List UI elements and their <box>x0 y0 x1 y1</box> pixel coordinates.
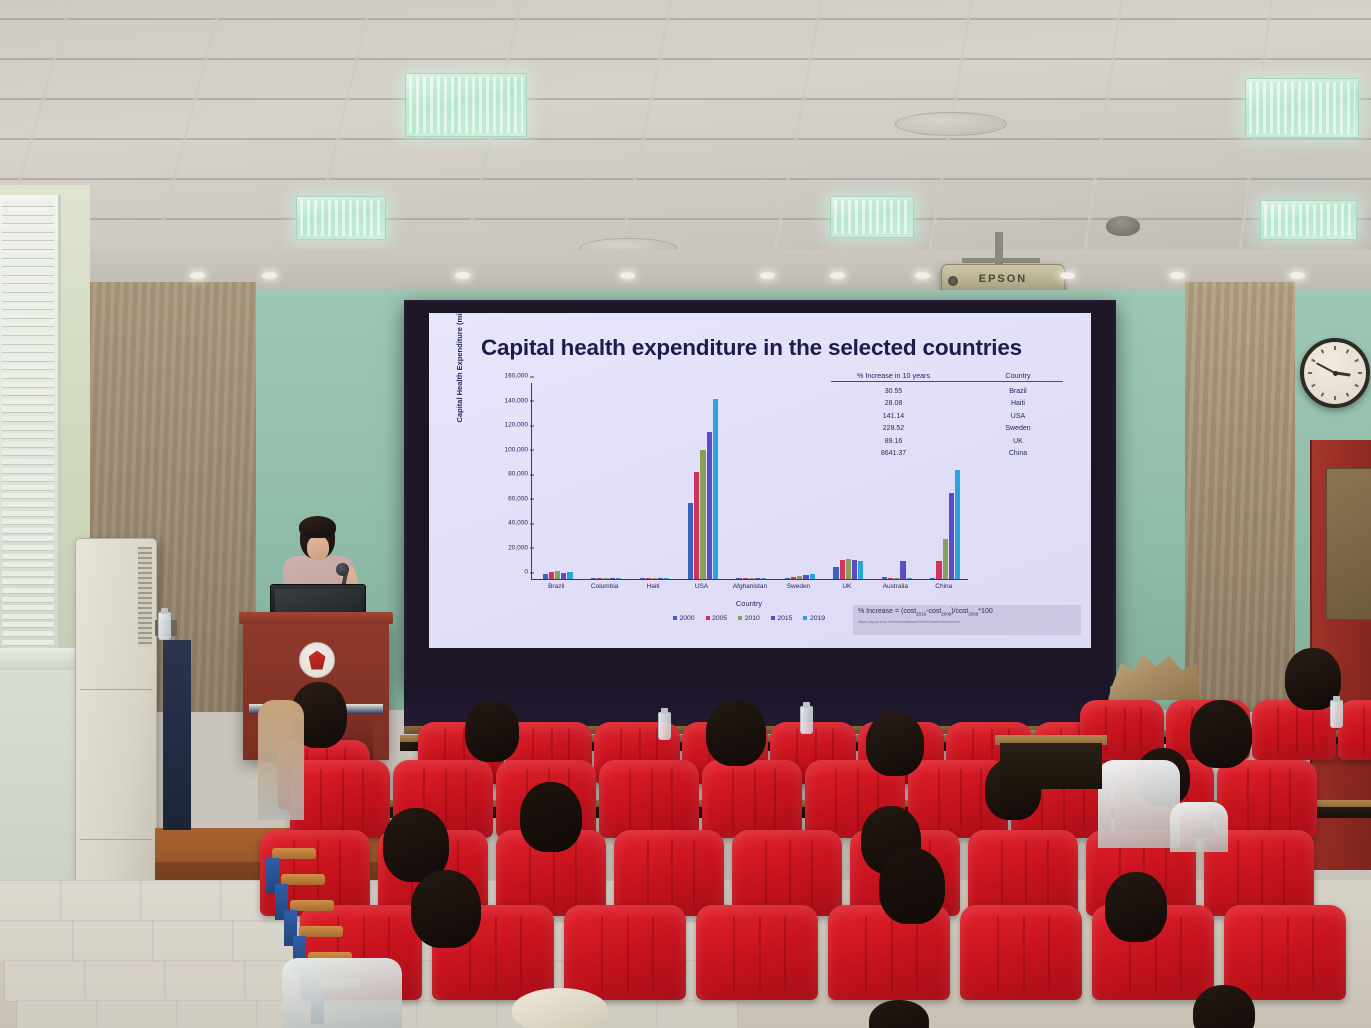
chart-y-tick-label: 20,000 <box>508 544 528 551</box>
chart-bar <box>894 578 899 579</box>
table-cell-country: Sweden <box>973 425 1063 432</box>
seat-back <box>290 760 390 838</box>
seat-crease <box>1140 707 1142 754</box>
audience-torso <box>258 700 304 820</box>
window-blind-slat <box>2 244 54 250</box>
window-blind-slat <box>2 579 54 585</box>
chart-bar-cluster <box>640 578 670 579</box>
chart-x-tick-label: Australia <box>883 583 908 590</box>
window-blind-slat <box>2 588 54 594</box>
chart-y-tick-label: 0 <box>524 569 528 576</box>
window-blind-slat <box>2 296 54 302</box>
seat-back <box>564 905 686 1000</box>
presenter-hair <box>299 516 336 538</box>
door-panel <box>1326 468 1371 620</box>
seat <box>290 760 390 838</box>
chart-bar <box>713 399 718 579</box>
chart-bar <box>700 450 705 579</box>
audience-member <box>1190 700 1252 768</box>
seat-crease <box>980 769 982 830</box>
floor-tile <box>152 920 234 962</box>
clock-tick <box>1311 384 1315 388</box>
audience-member <box>869 1000 929 1028</box>
audience-head <box>869 1000 929 1028</box>
seat-crease <box>671 840 673 907</box>
seat-crease <box>342 769 344 830</box>
ceiling-grid-line <box>0 218 1371 220</box>
chart-x-tick-label: Columbia <box>591 583 618 590</box>
window-blind-slat <box>2 425 54 431</box>
presentation-slide: Capital health expenditure in the select… <box>429 313 1091 648</box>
window-blind-slat <box>2 571 54 577</box>
ceiling-light-panel <box>830 196 914 238</box>
window-blind-slat <box>2 210 54 216</box>
chart-bar-cluster <box>736 578 766 579</box>
seat-back <box>696 905 818 1000</box>
chart-x-tick-label: Brazil <box>548 583 564 590</box>
window-blind-slat <box>2 622 54 628</box>
seat-crease <box>1237 840 1239 907</box>
chart-legend-label: 2015 <box>777 615 792 622</box>
audience-head <box>879 848 945 924</box>
chart-bar <box>688 503 693 579</box>
chart-legend-item: 2015 <box>771 615 793 622</box>
chart-bar-cluster <box>591 578 621 579</box>
water-bottle <box>158 612 171 640</box>
chart-legend-item: 2019 <box>803 615 825 622</box>
chart-bar <box>640 578 645 579</box>
institution-emblem-icon <box>299 642 335 678</box>
recessed-downlight <box>620 272 635 279</box>
wall-clock <box>1300 338 1370 408</box>
chart-y-tick-label: 140,000 <box>505 397 529 404</box>
seat <box>1217 760 1317 838</box>
audience-head <box>465 700 519 762</box>
microphone-icon <box>336 563 349 576</box>
clock-tick <box>1321 392 1325 396</box>
chart-legend-label: 2005 <box>712 615 727 622</box>
chart-y-tick-label: 120,000 <box>505 422 529 429</box>
audience-head <box>1105 872 1167 942</box>
window-blind-slat <box>2 528 54 534</box>
chart-bar <box>888 578 893 579</box>
window-blind-slat <box>2 433 54 439</box>
recessed-downlight <box>1060 272 1075 279</box>
window-blind-slat <box>2 390 54 396</box>
seat <box>732 830 842 916</box>
table-cell-increase: 8641.37 <box>831 450 956 457</box>
chart-x-tick-label: USA <box>695 583 708 590</box>
side-equipment-stand <box>163 640 191 830</box>
chart-bar <box>755 578 760 579</box>
window-blind-slat <box>2 330 54 336</box>
chart-legend-label: 2010 <box>745 615 760 622</box>
table-header-increase: % Increase in 10 years <box>831 371 956 380</box>
clock-tick <box>1346 392 1350 396</box>
chart-bar <box>907 578 912 579</box>
chart-legend-swatch <box>771 616 775 620</box>
ac-vent-grille <box>138 547 152 647</box>
table-row: 28.08Haiti <box>831 400 1063 407</box>
water-bottle <box>1330 700 1343 728</box>
chart-bar <box>810 574 815 579</box>
recessed-downlight <box>262 272 277 279</box>
ac-seam <box>80 689 152 690</box>
formula-box: % Increase = (cost2019-cost2009)/cost200… <box>853 605 1081 635</box>
chart-legend-swatch <box>738 616 742 620</box>
seat-crease <box>857 769 859 830</box>
floor-tile <box>176 1000 258 1028</box>
table-row: 8641.37China <box>831 450 1063 457</box>
audience-member <box>866 712 924 776</box>
ac-seam <box>80 839 152 840</box>
chart-bar <box>955 470 960 579</box>
seat-crease <box>1023 916 1025 990</box>
seat-crease <box>1001 840 1003 907</box>
recessed-downlight <box>915 272 930 279</box>
seat-crease <box>651 769 653 830</box>
chart-bar <box>900 561 905 579</box>
table-cell-country: China <box>973 450 1063 457</box>
chart-bar <box>555 571 560 579</box>
audience-member <box>706 700 766 766</box>
window-blind-slat <box>2 321 54 327</box>
seat <box>960 905 1082 1000</box>
chart-legend-swatch <box>803 616 807 620</box>
chart-x-tick-label: Sweden <box>787 583 811 590</box>
seat-crease <box>1296 707 1298 754</box>
seat-back <box>968 830 1078 916</box>
window-blind-slat <box>2 261 54 267</box>
chart-bar <box>749 578 754 579</box>
clock-tick <box>1334 396 1336 400</box>
ceiling-light-panel <box>405 73 527 137</box>
seat-crease <box>1048 916 1050 990</box>
podium-top <box>239 612 393 624</box>
floor-tile <box>84 960 166 1002</box>
audience-member <box>1105 872 1167 942</box>
chart-bar <box>858 561 863 579</box>
chart-bar <box>833 567 838 579</box>
window-blind-slat <box>2 459 54 465</box>
formula-text: % Increase = (cost2019-cost2009)/cost200… <box>858 608 1076 616</box>
window-blind-slat <box>2 614 54 620</box>
table-row: 141.14USA <box>831 413 1063 420</box>
window-blind-slat <box>2 597 54 603</box>
seat-crease <box>1261 916 1263 990</box>
seat <box>696 905 818 1000</box>
floor-tile <box>60 880 142 922</box>
seat-crease <box>362 769 364 830</box>
floor-tile <box>96 1000 178 1028</box>
seat-crease <box>495 916 497 990</box>
audience-member <box>520 782 582 852</box>
seat-crease <box>916 916 918 990</box>
window-blind-slat <box>2 502 54 508</box>
floor-tile <box>0 920 74 962</box>
window-blind-slat <box>2 218 54 224</box>
chart-y-tick-label: 160,000 <box>505 373 529 380</box>
chart-bar <box>664 578 669 579</box>
ceiling-grid-line <box>0 18 1371 20</box>
chart-bar <box>797 576 802 579</box>
seat-crease <box>789 840 791 907</box>
table-row: 228.52Sweden <box>831 425 1063 432</box>
audience-member <box>465 700 519 762</box>
window-blind-slat <box>2 373 54 379</box>
chart-bar <box>603 578 608 579</box>
increase-table: % Increase in 10 years Country 30.55Braz… <box>831 371 1063 457</box>
floor-tile <box>164 960 246 1002</box>
chart-bar <box>736 578 741 579</box>
audience-head <box>1190 700 1252 768</box>
wood-wall-panel-right <box>1185 282 1295 712</box>
table-cell-increase: 89.16 <box>831 438 956 445</box>
chart-bar <box>743 578 748 579</box>
table-cell-increase: 141.14 <box>831 413 956 420</box>
seat-back <box>732 830 842 916</box>
seat-crease <box>1105 707 1107 754</box>
table-cell-country: Haiti <box>973 400 1063 407</box>
audience-member <box>1193 985 1255 1028</box>
window-blind-slat <box>2 278 54 284</box>
clock-tick <box>1321 349 1325 353</box>
clock-tick <box>1346 349 1350 353</box>
seat-crease <box>1025 840 1027 907</box>
table-cell-increase: 228.52 <box>831 425 956 432</box>
window-blind-slat <box>2 442 54 448</box>
slide-title: Capital health expenditure in the select… <box>481 335 1022 361</box>
seat-back <box>960 905 1082 1000</box>
window-blind-slat <box>2 631 54 637</box>
floor-tile <box>656 1000 738 1028</box>
window-blind-slat <box>2 304 54 310</box>
window-blind-slat <box>2 347 54 353</box>
window-blind-slat <box>2 227 54 233</box>
seat-crease <box>1047 840 1049 907</box>
seat-crease <box>765 840 767 907</box>
window-blind-slat <box>2 407 54 413</box>
table-cell-increase: 30.55 <box>831 388 956 395</box>
chart-x-tick-label: UK <box>842 583 851 590</box>
seat-crease <box>1283 840 1285 907</box>
audience-head <box>1193 985 1255 1028</box>
seat-crease <box>671 769 673 830</box>
window-blind-slat <box>2 450 54 456</box>
floor-tile <box>4 960 86 1002</box>
table-header-country: Country <box>973 371 1063 380</box>
window-blind-slat <box>2 253 54 259</box>
audience-head <box>866 712 924 776</box>
seat-crease <box>997 916 999 990</box>
seat-crease <box>339 840 341 907</box>
window-blind-slat <box>2 640 54 646</box>
window-blind-slat <box>2 468 54 474</box>
chart-bar <box>761 578 766 579</box>
seat-crease <box>733 916 735 990</box>
presenter-face <box>307 536 329 560</box>
clock-tick <box>1358 372 1362 374</box>
clock-center-dot <box>1333 371 1338 376</box>
clock-tick <box>1354 384 1358 388</box>
seat-back <box>702 760 802 838</box>
clock-tick <box>1308 372 1312 374</box>
window-blind-slat <box>2 511 54 517</box>
clock-tick <box>1354 359 1358 363</box>
chart-y-tick-label: 80,000 <box>508 471 528 478</box>
window-blind-slat <box>2 399 54 405</box>
chart-y-tick-label: 40,000 <box>508 520 528 527</box>
chart-bar <box>803 575 808 579</box>
recessed-downlight <box>1170 272 1185 279</box>
formula-source-url: https://apps.who.int/nha/database/ViewDa… <box>858 619 1076 624</box>
window-blind-slat <box>2 270 54 276</box>
window-blind-slat <box>2 382 54 388</box>
chart-x-tick-label: China <box>935 583 952 590</box>
chart-bar <box>616 578 621 579</box>
seat-crease <box>652 916 654 990</box>
chart-bar <box>882 577 887 579</box>
chart-y-tick-label: 100,000 <box>505 446 529 453</box>
window-blind-slat <box>2 364 54 370</box>
chart-legend-label: 2000 <box>679 615 694 622</box>
chart-bar-cluster <box>882 561 912 579</box>
seat-crease <box>960 769 962 830</box>
recessed-downlight <box>1290 272 1305 279</box>
chart-bar-cluster <box>688 399 718 579</box>
chart-x-tick-label: Afghanistan <box>733 583 767 590</box>
chart-bar <box>561 573 566 579</box>
seat-crease <box>1363 707 1365 754</box>
chart-bar <box>543 574 548 579</box>
ceiling-grid-line <box>0 138 1371 140</box>
seat-back <box>614 830 724 916</box>
recessed-downlight <box>190 272 205 279</box>
seat-crease <box>835 769 837 830</box>
window-blind-slat <box>2 554 54 560</box>
projection-screen: Capital health expenditure in the select… <box>404 300 1116 686</box>
seat-crease <box>1289 769 1291 830</box>
chart-bar <box>646 578 651 579</box>
window-blind-slat <box>2 493 54 499</box>
baseball-cap <box>512 988 608 1028</box>
seat-crease <box>629 769 631 830</box>
seat <box>599 760 699 838</box>
floor-tile <box>72 920 154 962</box>
chart-bar <box>840 560 845 579</box>
chart-legend-label: 2019 <box>810 615 825 622</box>
seat-crease <box>1312 707 1314 754</box>
chart-bar <box>597 578 602 579</box>
seat-crease <box>1124 707 1126 754</box>
ceiling-grid-line <box>0 178 1371 180</box>
chart-bar <box>791 577 796 579</box>
chart-bar-cluster <box>785 574 815 579</box>
table-cell-country: UK <box>973 438 1063 445</box>
ceiling-light-panel <box>296 196 386 240</box>
audience-torso <box>282 958 402 1028</box>
side-table-right-body <box>1000 743 1102 789</box>
window-blind-slat <box>2 545 54 551</box>
water-bottle <box>800 706 813 734</box>
seat-crease <box>732 769 734 830</box>
ceiling-light-panel <box>1245 78 1359 138</box>
chart-bar-cluster <box>833 559 863 579</box>
table-header-row: % Increase in 10 years Country <box>831 371 1063 382</box>
audience-head <box>706 700 766 766</box>
seat-crease <box>891 916 893 990</box>
seat-crease <box>1312 916 1314 990</box>
clock-tick <box>1311 359 1315 363</box>
chart-bar <box>549 572 554 579</box>
recessed-downlight <box>455 272 470 279</box>
seat <box>702 760 802 838</box>
recessed-downlight <box>830 272 845 279</box>
audience-torso <box>1170 802 1228 852</box>
chart-legend-swatch <box>673 616 677 620</box>
seat-crease <box>784 916 786 990</box>
floor-tile <box>140 880 222 922</box>
window-blind-slat <box>2 605 54 611</box>
seat-crease <box>865 916 867 990</box>
ceiling-air-vent <box>895 112 1007 136</box>
window-blind-slat <box>2 562 54 568</box>
seat-crease <box>601 916 603 990</box>
table-cell-increase: 28.08 <box>831 400 956 407</box>
projector-arm <box>962 258 1040 263</box>
chart-bar <box>707 432 712 579</box>
chart-bar <box>591 578 596 579</box>
seat-crease <box>465 769 467 830</box>
window-blind-slat <box>2 485 54 491</box>
chart-bar <box>785 578 790 579</box>
seat-crease <box>1287 916 1289 990</box>
seat-crease <box>811 840 813 907</box>
seat-crease <box>774 769 776 830</box>
seat-back <box>1217 760 1317 838</box>
projector-brand-label: EPSON <box>942 273 1064 285</box>
ceiling-light-panel <box>1260 200 1357 240</box>
floor-tile <box>416 1000 498 1028</box>
chart-bar <box>930 578 935 579</box>
table-row: 89.16UK <box>831 438 1063 445</box>
clock-tick <box>1334 346 1336 350</box>
window-blind-slat <box>2 313 54 319</box>
table-cell-country: Brazil <box>973 388 1063 395</box>
lecture-hall-photo: EPSON Capital health expenditure in the … <box>0 0 1371 1028</box>
chart-bar <box>846 559 851 579</box>
chart-bar <box>694 472 699 579</box>
table-row: 30.55Brazil <box>831 388 1063 395</box>
seat-crease <box>1269 769 1271 830</box>
audience-head <box>411 870 481 948</box>
seat-crease <box>1247 769 1249 830</box>
seat-crease <box>647 840 649 907</box>
chart-legend-item: 2000 <box>673 615 695 622</box>
window-blind-slat <box>2 339 54 345</box>
seat-back <box>599 760 699 838</box>
seat <box>968 830 1078 916</box>
chart-bar <box>852 560 857 579</box>
chart-y-axis-title: Capital Health Expenditure (million $) <box>455 313 464 431</box>
window-left <box>0 195 61 655</box>
seat <box>614 830 724 916</box>
table-cell-country: USA <box>973 413 1063 420</box>
floor-tile <box>0 880 62 922</box>
window-blind-slat <box>2 476 54 482</box>
seat-crease <box>320 769 322 830</box>
window-blind-slat <box>2 201 54 207</box>
